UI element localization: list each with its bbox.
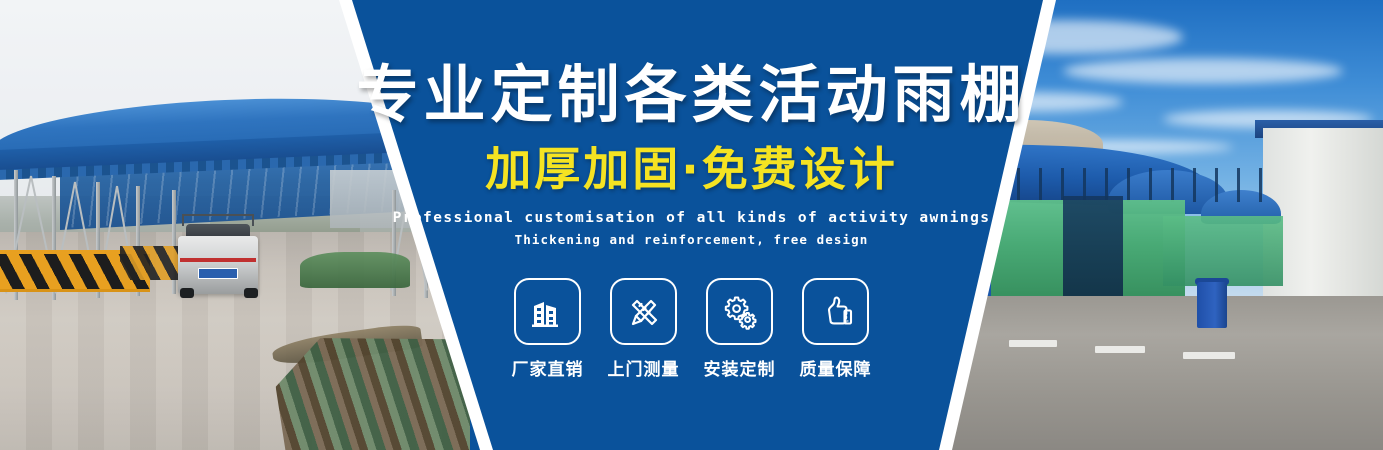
feature-item-quality-guarantee[interactable]: 质量保障 (802, 278, 870, 380)
feature-label: 质量保障 (800, 355, 872, 380)
english-tagline-primary: Professional customisation of all kinds … (0, 210, 1383, 226)
thumbs-up-icon (817, 293, 855, 331)
feature-item-installation-custom[interactable]: 安装定制 (706, 278, 774, 380)
feature-icon-box (514, 278, 581, 345)
feature-label: 厂家直销 (512, 355, 584, 380)
building-icon (530, 294, 566, 330)
page-title: 专业定制各类活动雨棚 (0, 64, 1383, 126)
feature-icon-box (610, 278, 677, 345)
promotional-banner: 专业定制各类活动雨棚 加厚加固·免费设计 Professional custom… (0, 0, 1383, 450)
banner-content: 专业定制各类活动雨棚 加厚加固·免费设计 Professional custom… (0, 0, 1383, 450)
english-tagline-secondary: Thickening and reinforcement, free desig… (0, 232, 1383, 247)
feature-label: 上门测量 (608, 355, 680, 380)
feature-item-on-site-measurement[interactable]: 上门测量 (610, 278, 678, 380)
subtitle: 加厚加固·免费设计 (0, 146, 1383, 192)
feature-icon-box (802, 278, 869, 345)
feature-label: 安装定制 (704, 355, 776, 380)
gears-icon (721, 293, 759, 331)
pencil-ruler-icon (625, 293, 663, 331)
feature-list: 厂家直销 (0, 278, 1383, 380)
feature-item-factory-direct[interactable]: 厂家直销 (514, 278, 582, 380)
feature-icon-box (706, 278, 773, 345)
